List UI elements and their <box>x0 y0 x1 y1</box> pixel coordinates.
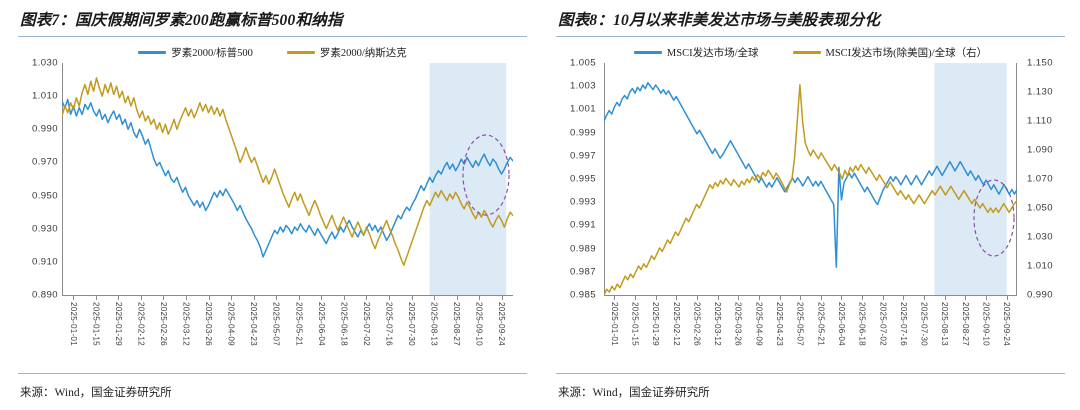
y-tick-label: 0.950 <box>32 190 58 201</box>
source-note-7: 来源：Wind，国金证券研究所 <box>20 384 172 400</box>
y-tick-label: 1.010 <box>32 91 58 102</box>
x-tick <box>344 295 345 300</box>
x-tick <box>163 295 164 300</box>
x-tick-label: 2025-07-16 <box>384 302 393 346</box>
x-tick-label: 2025-01-01 <box>610 302 619 346</box>
x-tick-label: 2025-01-15 <box>91 302 100 346</box>
source-rule-7 <box>18 373 527 374</box>
legend-label-russell-sp500: 罗素2000/标普500 <box>171 45 253 60</box>
y-tick-label: 0.910 <box>32 256 58 267</box>
figure-panel-7: 图表7：国庆假期间罗素200跑赢标普500和纳指 罗素2000/标普500 罗素… <box>18 0 527 410</box>
x-tick <box>883 295 884 300</box>
x-tick-label: 2025-05-21 <box>816 302 825 346</box>
x-tick <box>434 295 435 300</box>
x-tick-label: 2025-06-04 <box>837 302 846 346</box>
x-tick <box>635 295 636 300</box>
x-tick <box>186 295 187 300</box>
x-axis-8: 2025-01-012025-01-152025-01-292025-02-12… <box>604 295 1017 353</box>
y-tick-label: 1.003 <box>570 81 596 92</box>
y-tick-label: 0.930 <box>32 223 58 234</box>
y-tick-label: 1.030 <box>1027 232 1053 243</box>
y-axis-right-8: 1.1501.1301.1101.0901.0701.0501.0301.010… <box>1023 63 1063 295</box>
x-tick <box>945 295 946 300</box>
x-tick-label: 2025-07-02 <box>362 302 371 346</box>
x-tick-label: 2025-01-15 <box>630 302 639 346</box>
x-tick-label: 2025-04-23 <box>775 302 784 346</box>
source-note-8: 来源：Wind，国金证券研究所 <box>558 384 710 400</box>
x-tick-label: 2025-07-16 <box>899 302 908 346</box>
shaded-period-band <box>934 63 1006 295</box>
x-tick-label: 2025-09-10 <box>475 302 484 346</box>
y-tick-label: 0.997 <box>570 150 596 161</box>
y-tick-label: 0.985 <box>570 290 596 301</box>
x-tick-label: 2025-03-26 <box>204 302 213 346</box>
x-tick-label: 2025-07-02 <box>878 302 887 346</box>
y-tick-label: 0.995 <box>570 174 596 185</box>
chart-area-7: 罗素2000/标普500 罗素2000/纳斯达克 1.0301.0100.990… <box>18 41 527 341</box>
y-axis-left-7: 1.0301.0100.9900.9700.9500.9300.9100.890 <box>18 63 58 295</box>
y-tick-label: 1.010 <box>1027 261 1053 272</box>
x-tick <box>502 295 503 300</box>
x-tick <box>697 295 698 300</box>
x-tick-label: 2025-04-09 <box>754 302 763 346</box>
x-tick-label: 2025-01-01 <box>69 302 78 346</box>
x-tick <box>614 295 615 300</box>
x-tick-label: 2025-09-24 <box>1002 302 1011 346</box>
x-tick-label: 2025-06-18 <box>858 302 867 346</box>
x-tick-label: 2025-08-27 <box>961 302 970 346</box>
x-tick-label: 2025-05-21 <box>294 302 303 346</box>
x-tick <box>366 295 367 300</box>
x-tick <box>986 295 987 300</box>
x-tick-label: 2025-02-12 <box>672 302 681 346</box>
x-tick <box>231 295 232 300</box>
legend-swatch-gold <box>287 51 315 54</box>
legend-label-msci-dm-exus-world: MSCI发达市场(除美国)/全球（右） <box>826 45 988 60</box>
x-tick-label: 2025-01-29 <box>114 302 123 346</box>
y-tick-label: 0.990 <box>1027 290 1053 301</box>
x-axis-7: 2025-01-012025-01-152025-01-292025-02-12… <box>62 295 513 353</box>
x-tick <box>209 295 210 300</box>
x-tick <box>321 295 322 300</box>
figure-title-8: 图表8：10月以来非美发达市场与美股表现分化 <box>556 0 1065 36</box>
x-tick-label: 2025-02-26 <box>159 302 168 346</box>
x-tick <box>457 295 458 300</box>
y-tick-label: 1.110 <box>1027 116 1052 127</box>
y-tick-label: 1.050 <box>1027 203 1053 214</box>
x-tick-label: 2025-07-30 <box>920 302 929 346</box>
legend-label-russell-nasdaq: 罗素2000/纳斯达克 <box>320 45 407 60</box>
x-tick-label: 2025-08-27 <box>452 302 461 346</box>
x-tick-label: 2025-06-18 <box>339 302 348 346</box>
x-tick <box>841 295 842 300</box>
y-tick-label: 0.990 <box>32 124 58 135</box>
x-tick <box>141 295 142 300</box>
y-tick-label: 0.989 <box>570 243 596 254</box>
source-rule-8 <box>556 373 1065 374</box>
legend-item-msci-dm-exus-world[interactable]: MSCI发达市场(除美国)/全球（右） <box>793 45 988 60</box>
legend-swatch-blue <box>634 51 662 54</box>
legend-label-msci-dm-world: MSCI发达市场/全球 <box>667 45 759 60</box>
x-tick <box>118 295 119 300</box>
x-tick <box>862 295 863 300</box>
x-tick-label: 2025-03-12 <box>182 302 191 346</box>
y-tick-label: 1.130 <box>1027 87 1053 98</box>
x-tick-label: 2025-08-13 <box>430 302 439 346</box>
y-tick-label: 0.970 <box>32 157 58 168</box>
legend-swatch-gold <box>793 51 821 54</box>
x-tick-label: 2025-03-26 <box>734 302 743 346</box>
y-tick-label: 1.090 <box>1027 145 1053 156</box>
y-tick-label: 0.991 <box>570 220 596 231</box>
x-tick-label: 2025-02-12 <box>136 302 145 346</box>
shaded-period-band <box>430 63 507 295</box>
chart-area-8: MSCI发达市场/全球 MSCI发达市场(除美国)/全球（右） 1.0051.0… <box>556 41 1065 341</box>
x-tick <box>254 295 255 300</box>
x-tick <box>759 295 760 300</box>
x-tick <box>96 295 97 300</box>
x-tick <box>299 295 300 300</box>
y-tick-label: 1.001 <box>570 104 596 115</box>
x-tick <box>903 295 904 300</box>
x-tick <box>821 295 822 300</box>
x-tick <box>718 295 719 300</box>
x-tick <box>1007 295 1008 300</box>
x-tick-label: 2025-05-07 <box>272 302 281 346</box>
plot-region-8 <box>604 63 1017 295</box>
x-tick <box>965 295 966 300</box>
x-tick-label: 2025-08-13 <box>940 302 949 346</box>
x-tick-label: 2025-04-09 <box>227 302 236 346</box>
x-tick <box>780 295 781 300</box>
title-rule-8 <box>556 36 1065 37</box>
x-tick-label: 2025-09-24 <box>497 302 506 346</box>
x-tick-label: 2025-05-07 <box>796 302 805 346</box>
figure-title-7: 图表7：国庆假期间罗素200跑赢标普500和纳指 <box>18 0 527 36</box>
x-tick-label: 2025-07-30 <box>407 302 416 346</box>
y-tick-label: 0.993 <box>570 197 596 208</box>
y-tick-label: 1.070 <box>1027 174 1053 185</box>
x-tick-label: 2025-06-04 <box>317 302 326 346</box>
title-rule-7 <box>18 36 527 37</box>
y-tick-label: 0.987 <box>570 266 596 277</box>
figure-panel-8: 图表8：10月以来非美发达市场与美股表现分化 MSCI发达市场/全球 MSCI发… <box>556 0 1065 410</box>
x-tick <box>676 295 677 300</box>
x-tick <box>73 295 74 300</box>
chart-legend-7: 罗素2000/标普500 罗素2000/纳斯达克 <box>18 45 527 60</box>
figure-page: 图表7：国庆假期间罗素200跑赢标普500和纳指 罗素2000/标普500 罗素… <box>0 0 1080 410</box>
y-tick-label: 0.999 <box>570 127 596 138</box>
y-tick-label: 0.890 <box>32 290 58 301</box>
line-chart-8 <box>604 63 1017 295</box>
x-tick-label: 2025-04-23 <box>249 302 258 346</box>
plot-region-7 <box>62 63 513 295</box>
legend-swatch-blue <box>138 51 166 54</box>
x-tick <box>276 295 277 300</box>
x-tick <box>412 295 413 300</box>
x-tick <box>924 295 925 300</box>
x-tick <box>479 295 480 300</box>
x-tick-label: 2025-09-10 <box>982 302 991 346</box>
chart-legend-8: MSCI发达市场/全球 MSCI发达市场(除美国)/全球（右） <box>556 45 1065 60</box>
x-tick <box>738 295 739 300</box>
y-axis-left-8: 1.0051.0031.0010.9990.9970.9950.9930.991… <box>556 63 596 295</box>
x-tick <box>656 295 657 300</box>
x-tick <box>389 295 390 300</box>
legend-item-russell-nasdaq[interactable]: 罗素2000/纳斯达克 <box>287 45 407 60</box>
line-chart-7 <box>62 63 513 295</box>
legend-item-msci-dm-world[interactable]: MSCI发达市场/全球 <box>634 45 759 60</box>
x-tick-label: 2025-03-12 <box>713 302 722 346</box>
x-tick-label: 2025-01-29 <box>651 302 660 346</box>
legend-item-russell-sp500[interactable]: 罗素2000/标普500 <box>138 45 253 60</box>
x-tick <box>800 295 801 300</box>
x-tick-label: 2025-02-26 <box>692 302 701 346</box>
